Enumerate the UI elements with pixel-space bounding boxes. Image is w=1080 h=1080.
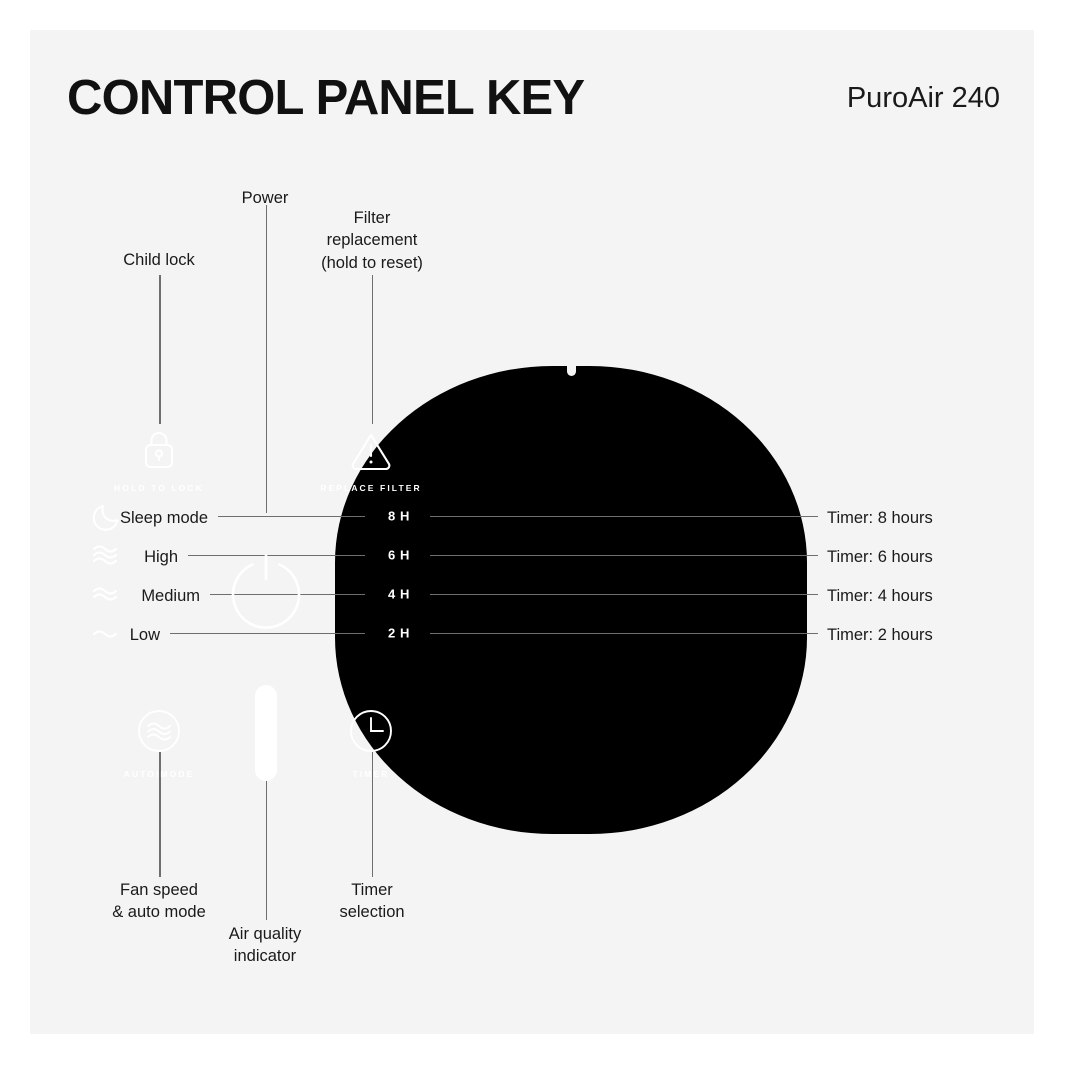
callout-child-lock: Child lock [123,249,195,271]
callout-timer-6-hours: Timer: 6 hours [827,546,933,568]
leader-timer-6 [430,555,818,557]
timer-button[interactable] [349,709,393,753]
callout-timer-selection: Timer selection [339,879,404,924]
fan-speed-low-indicator [86,613,130,653]
lock-icon [142,431,176,469]
crescent-moon-icon [93,501,123,531]
leader-child-lock [159,275,161,424]
child-lock-button[interactable] [137,428,181,472]
leader-timer-8 [430,516,818,518]
two-waves-icon [91,584,125,604]
auto-mode-button[interactable] [137,709,181,753]
air-quality-indicator [255,685,277,781]
callout-timer-4-hours: Timer: 4 hours [827,585,933,607]
timer-step-8h: 8 H [388,509,410,524]
three-waves-icon [91,542,125,568]
timer-step-6h: 6 H [388,548,410,563]
replace-filter-caption: REPLACE FILTER [320,483,422,493]
timer-step-4h: 4 H [388,587,410,602]
leader-air-quality [266,765,268,920]
fan-speed-high-indicator [86,535,130,575]
fan-speed-medium-indicator [86,574,130,614]
power-icon [223,547,309,633]
waves-circle-icon [137,709,181,753]
timer-step-2h: 2 H [388,626,410,641]
leader-filter-replacement [372,275,374,424]
timer-caption: TIMER [353,769,390,779]
product-model-label: PuroAir 240 [847,82,1000,115]
power-button[interactable] [210,534,322,646]
page-title: CONTROL PANEL KEY [67,70,584,126]
callout-timer-2-hours: Timer: 2 hours [827,624,933,646]
callout-timer-8-hours: Timer: 8 hours [827,507,933,529]
diagram-card: CONTROL PANEL KEY PuroAir 240 [30,30,1034,1034]
leader-timer-2 [430,633,818,635]
child-lock-caption: HOLD TO LOCK [114,483,204,493]
replace-filter-button[interactable] [349,428,393,472]
leader-power [266,205,268,513]
clock-icon [349,709,393,753]
callout-air-quality: Air quality indicator [229,923,301,968]
sleep-mode-indicator [86,496,130,536]
callout-fan-speed: Fan speed & auto mode [112,879,206,924]
leader-sleep-mode [218,516,365,518]
warning-triangle-icon [350,431,392,469]
one-wave-icon [91,626,125,640]
auto-mode-caption: AUTO/MODE [124,769,195,779]
control-panel-key-page: CONTROL PANEL KEY PuroAir 240 [0,0,1080,1080]
panel-top-notch [567,364,576,376]
leader-timer-4 [430,594,818,596]
callout-filter-replacement: Filter replacement (hold to reset) [321,207,423,274]
